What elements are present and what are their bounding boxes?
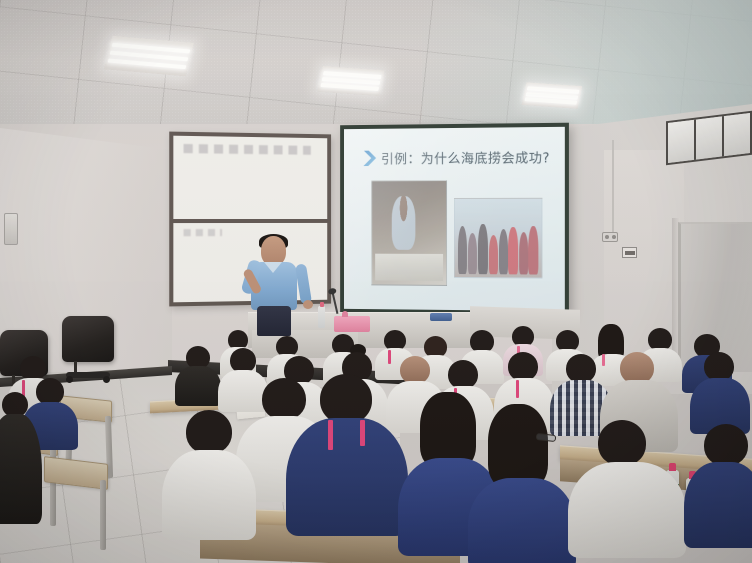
lanyard xyxy=(516,380,519,398)
ceiling-light-panel-2 xyxy=(317,66,384,96)
attendee-head xyxy=(704,352,734,381)
office-chair[interactable] xyxy=(62,316,114,362)
podium-water-bottle xyxy=(318,306,325,328)
podium-pink-box xyxy=(334,316,370,332)
attendee-body xyxy=(218,370,268,412)
attendee-head xyxy=(598,420,646,466)
attendee-body xyxy=(568,462,686,558)
slide-photo-restaurant xyxy=(371,180,447,286)
lanyard xyxy=(602,354,605,366)
presenter-trousers xyxy=(257,306,291,336)
attendee-hair xyxy=(420,392,476,468)
attendee-body xyxy=(0,414,42,524)
chair-leg xyxy=(100,480,106,550)
presenter xyxy=(245,236,307,332)
attendee-head xyxy=(704,424,748,466)
presenter-hand xyxy=(303,300,313,309)
attendee-head xyxy=(320,374,372,424)
ceiling-light-panel-1 xyxy=(104,36,194,77)
slide-photo-people xyxy=(455,199,541,278)
lanyard xyxy=(388,350,391,364)
projection-screen-assembly: 引例：为什么海底捞会成功? xyxy=(340,123,569,316)
attendee-head xyxy=(186,410,232,454)
attendee-head xyxy=(262,378,306,420)
emergency-light-icon xyxy=(602,232,618,242)
attendee-body xyxy=(162,450,256,540)
attendee-head xyxy=(508,352,538,381)
attendee-body xyxy=(684,462,752,548)
attendee-head xyxy=(448,360,478,389)
office-chair-base xyxy=(66,372,110,378)
attendee-body xyxy=(286,418,408,536)
classroom-photo: 引例：为什么海底捞会成功? xyxy=(0,0,752,563)
podium-blue-folder xyxy=(430,313,452,321)
projection-screen: 引例：为什么海底捞会成功? xyxy=(344,127,565,311)
light-switch-panel[interactable] xyxy=(622,247,637,258)
lanyard xyxy=(360,420,365,446)
attendee-hair xyxy=(488,404,548,488)
wall-conduit xyxy=(612,140,614,236)
slide-title-row: 引例：为什么海底捞会成功? xyxy=(363,147,550,167)
attendee-body xyxy=(175,366,221,406)
attendee-head xyxy=(400,356,430,384)
attendee-head xyxy=(36,378,64,405)
lanyard xyxy=(328,420,333,450)
attendee-head xyxy=(566,354,596,383)
wall-device xyxy=(4,213,18,245)
slide-photo-group xyxy=(454,198,542,279)
ceiling-light-panel-3 xyxy=(522,82,583,109)
whiteboard-writing-bottom xyxy=(184,229,222,236)
whiteboard-writing-top xyxy=(184,144,311,155)
slide-title-text: 引例：为什么海底捞会成功? xyxy=(381,147,550,167)
chevron-right-icon xyxy=(363,150,376,166)
attendee-body xyxy=(468,478,576,563)
